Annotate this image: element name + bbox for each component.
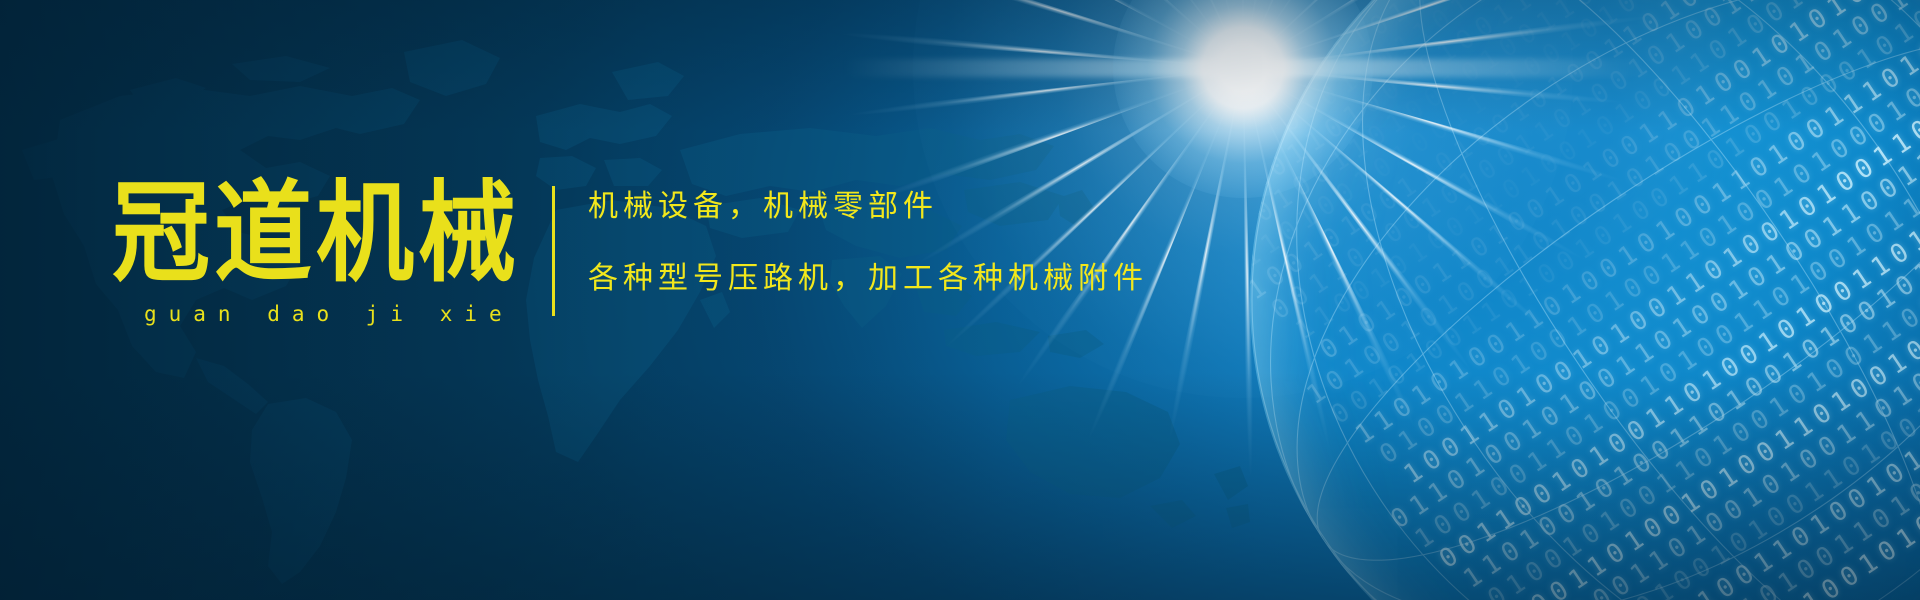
slogan-line: 各种型号压路机，加工各种机械附件	[588, 262, 1228, 296]
banner-content: 冠道机械 guan dao ji xie 机械设备，机械零部件 各种型号压路机，…	[0, 0, 1920, 600]
slogan-group: 机械设备，机械零部件 各种型号压路机，加工各种机械附件	[588, 190, 1228, 296]
logo: 冠道机械 guan dao ji xie	[112, 178, 532, 326]
company-banner: 1001011010010100110100101010010110100101…	[0, 0, 1920, 600]
company-name-cn: 冠道机械	[112, 178, 532, 290]
slogan-line: 机械设备，机械零部件	[588, 190, 1228, 224]
vertical-divider	[552, 186, 555, 316]
company-name-pinyin: guan dao ji xie	[112, 302, 532, 326]
